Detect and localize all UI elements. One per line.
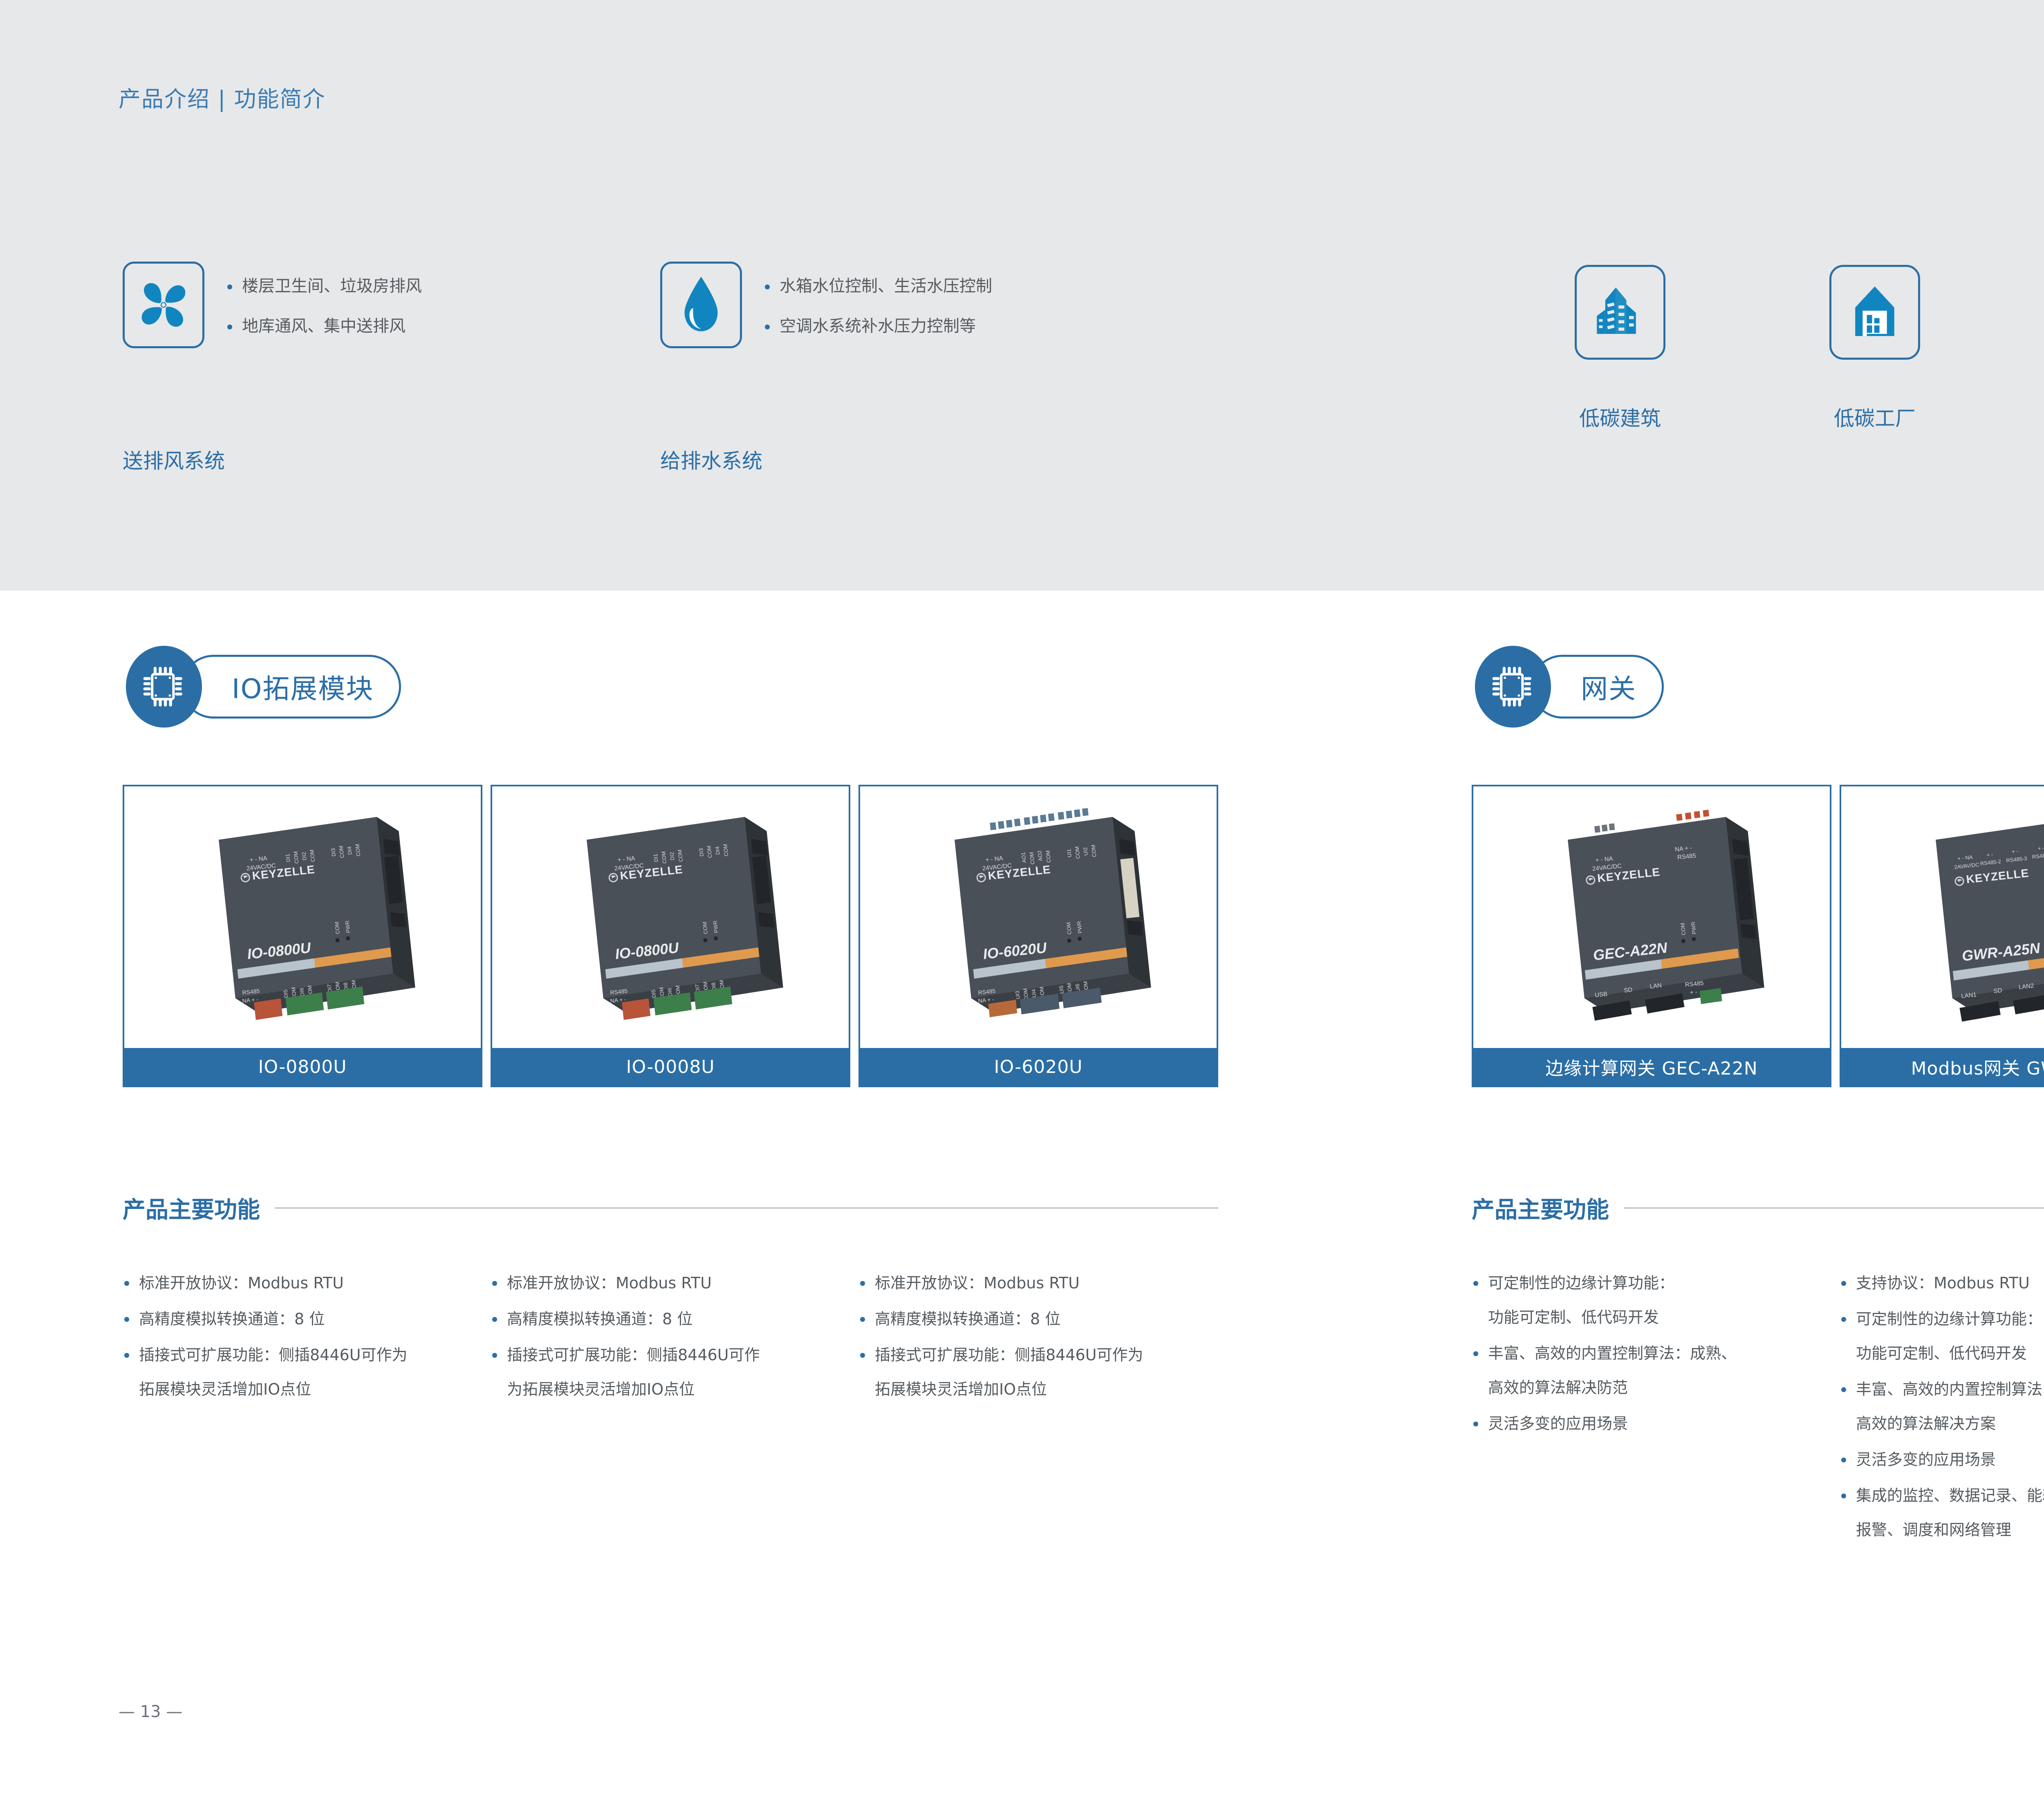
- svg-text:UI5: UI5: [1058, 985, 1065, 994]
- scenario-caption: 给排水系统: [660, 445, 762, 474]
- svg-text:UI2: UI2: [1082, 847, 1089, 856]
- svg-text:COM: COM: [1679, 923, 1687, 936]
- product-photo: + - NA 24VAC/DC NA + - RS485 KEYZELLE GE…: [1473, 786, 1830, 1048]
- device-image-io-0800u: + - NA 24VAC/DC DI1 COM DI2 COM DI3 COM …: [124, 786, 481, 1048]
- feature-column-io-3: 标准开放协议：Modbus RTU 高精度模拟转换通道：8 位 插接式可扩展功能…: [858, 1275, 1210, 1417]
- device-image-io-6020u: + - NA 24VAC/DC AO1 COM AO2 COM UI1 COM …: [860, 786, 1217, 1048]
- list-item: 高精度模拟转换通道：8 位: [491, 1311, 842, 1327]
- factory-icon-tile: [1829, 265, 1920, 360]
- feature-column-io-1: 标准开放协议：Modbus RTU 高精度模拟转换通道：8 位 插接式可扩展功能…: [123, 1275, 474, 1417]
- svg-text:SD: SD: [1624, 986, 1633, 994]
- list-item: 水箱水位控制、生活水压控制: [762, 278, 992, 294]
- list-item: 高精度模拟转换通道：8 位: [858, 1311, 1210, 1327]
- water-drop-icon-tile: [660, 262, 742, 348]
- product-card-caption: Modbus网关 GWR-A25N: [1841, 1048, 2044, 1086]
- ventilation-bullet-list: 楼层卫生间、垃圾房排风 地库通风、集中送排风: [225, 278, 422, 358]
- product-card-caption: IO-0800U: [124, 1048, 481, 1086]
- office-building-icon: [1594, 283, 1647, 341]
- section-badge-label: IO拓展模块: [232, 667, 374, 706]
- svg-text:AO2: AO2: [1036, 850, 1044, 861]
- svg-text:COM: COM: [309, 849, 316, 862]
- product-card[interactable]: + - NA + - + - + - + - 2AVAV/DC RS485-2 …: [1840, 785, 2044, 1087]
- feature-list: 支持协议：Modbus RTU 可定制性的边缘计算功能：功能可定制、低代码开发 …: [1840, 1275, 2044, 1538]
- svg-text:COM: COM: [677, 849, 684, 862]
- scenario-block-low-carbon-factory: 低碳工厂: [1826, 265, 1924, 432]
- svg-text:UI1: UI1: [1066, 849, 1073, 858]
- list-item: 支持协议：Modbus RTU: [1840, 1275, 2044, 1291]
- list-item: 标准开放协议：Modbus RTU: [491, 1275, 842, 1291]
- svg-text:COM: COM: [706, 845, 713, 858]
- list-item: 标准开放协议：Modbus RTU: [858, 1275, 1210, 1291]
- list-item: 楼层卫生间、垃圾房排风: [225, 278, 422, 294]
- list-item: 灵活多变的应用场景: [1840, 1452, 2044, 1467]
- svg-text:DI1: DI1: [652, 853, 659, 862]
- svg-text:DI1: DI1: [285, 853, 291, 862]
- svg-text:DI5: DI5: [650, 989, 657, 998]
- svg-text:DI2: DI2: [300, 852, 307, 861]
- running-header-left: 产品介绍 | 功能简介: [119, 81, 326, 113]
- feature-column-gw-1: 可定制性的边缘计算功能： 功能可定制、低代码开发 丰富、高效的内置控制算法：成熟…: [1472, 1275, 1823, 1452]
- features-heading-io: 产品主要功能: [123, 1191, 1218, 1225]
- product-card-caption: IO-6020U: [860, 1048, 1217, 1086]
- heading-rule: [1624, 1207, 2044, 1209]
- product-photo: + - NA 24VAC/DC DI1 COM DI2 COM DI3 COM …: [492, 786, 849, 1048]
- svg-text:COM: COM: [292, 851, 300, 864]
- svg-text:+ -: + -: [2011, 848, 2018, 855]
- device-image-gec-a22n: + - NA 24VAC/DC NA + - RS485 KEYZELLE GE…: [1473, 786, 1830, 1048]
- device-image-io-0008u: + - NA 24VAC/DC DI1 COM DI2 COM DI3 COM …: [492, 786, 849, 1048]
- svg-text:DI4: DI4: [714, 846, 721, 855]
- feature-column-io-2: 标准开放协议：Modbus RTU 高精度模拟转换通道：8 位 插接式可扩展功能…: [491, 1275, 842, 1417]
- svg-text:UI4: UI4: [1030, 989, 1037, 998]
- section-badge-pill: IO拓展模块: [182, 655, 401, 719]
- svg-text:AO1: AO1: [1020, 852, 1027, 863]
- svg-text:COM: COM: [1090, 844, 1097, 858]
- svg-text:DI3: DI3: [330, 848, 337, 857]
- svg-text:COM: COM: [1044, 850, 1052, 863]
- svg-text:USB: USB: [1594, 990, 1607, 999]
- factory-icon: [1851, 283, 1899, 341]
- svg-text:COM: COM: [338, 845, 345, 858]
- svg-text:UI3: UI3: [1014, 990, 1021, 999]
- svg-text:PWR: PWR: [1076, 921, 1083, 934]
- svg-text:COM: COM: [1065, 922, 1073, 935]
- svg-text:+ -: + -: [1690, 988, 1698, 996]
- list-item: 灵活多变的应用场景: [1472, 1416, 1823, 1431]
- features-heading-text: 产品主要功能: [123, 1191, 260, 1225]
- product-card[interactable]: + - NA 24VAC/DC DI1 COM DI2 COM DI3 COM …: [123, 785, 482, 1087]
- features-heading-gateway: 产品主要功能: [1472, 1191, 2044, 1225]
- list-item: 丰富、高效的内置控制算法：成熟、高效的算法解决防范: [1472, 1346, 1823, 1395]
- product-card-caption: IO-0008U: [492, 1048, 849, 1086]
- list-item: 空调水系统补水压力控制等: [762, 318, 992, 334]
- product-card[interactable]: + - NA 24VAC/DC NA + - RS485 KEYZELLE GE…: [1472, 785, 1831, 1087]
- product-card[interactable]: + - NA 24VAC/DC DI1 COM DI2 COM DI3 COM …: [491, 785, 850, 1087]
- list-item: 可定制性的边缘计算功能： 功能可定制、低代码开发: [1472, 1275, 1823, 1325]
- list-item: 可定制性的边缘计算功能：功能可定制、低代码开发: [1840, 1311, 2044, 1361]
- feature-list: 可定制性的边缘计算功能： 功能可定制、低代码开发 丰富、高效的内置控制算法：成熟…: [1472, 1275, 1823, 1431]
- feature-list: 标准开放协议：Modbus RTU 高精度模拟转换通道：8 位 插接式可扩展功能…: [858, 1275, 1210, 1397]
- water-drop-icon: [677, 274, 726, 336]
- scenario-caption: 低碳工厂: [1826, 402, 1924, 432]
- feature-list: 标准开放协议：Modbus RTU 高精度模拟转换通道：8 位 插接式可扩展功能…: [491, 1275, 842, 1397]
- list-item: 集成的监控、数据记录、能耗计量、报警、调度和网络管理: [1840, 1488, 2044, 1538]
- section-badge-pill: 网关: [1531, 655, 1664, 719]
- office-building-icon-tile: [1575, 265, 1665, 360]
- scenario-caption: 送排风系统: [123, 445, 225, 474]
- page-number-left: — 13 —: [119, 1702, 182, 1721]
- scenario-caption: 低碳建筑: [1571, 402, 1669, 432]
- water-bullet-list: 水箱水位控制、生活水压控制 空调水系统补水压力控制等: [762, 278, 992, 358]
- svg-text:DI3: DI3: [698, 848, 705, 857]
- svg-text:COM: COM: [1074, 846, 1081, 859]
- list-item: 地库通风、集中送排风: [225, 318, 422, 334]
- svg-text:COM: COM: [354, 844, 361, 857]
- svg-text:COM: COM: [334, 921, 341, 934]
- product-photo: + - NA 24VAC/DC DI1 COM DI2 COM DI3 COM …: [124, 786, 481, 1048]
- svg-text:LAN: LAN: [1650, 982, 1662, 990]
- fan-icon-tile: [123, 262, 204, 348]
- fan-icon: [135, 276, 192, 334]
- features-heading-text: 产品主要功能: [1472, 1191, 1609, 1225]
- svg-text:COM: COM: [722, 844, 729, 857]
- feature-column-gw-2: 支持协议：Modbus RTU 可定制性的边缘计算功能：功能可定制、低代码开发 …: [1840, 1275, 2044, 1558]
- heading-rule: [275, 1207, 1218, 1209]
- svg-text:DI4: DI4: [346, 846, 353, 855]
- list-item: 标准开放协议：Modbus RTU: [123, 1275, 474, 1291]
- svg-text:PWR: PWR: [344, 920, 352, 934]
- svg-text:SD: SD: [1993, 987, 2003, 995]
- list-item: 插接式可扩展功能：侧插8446U可作为拓展模块灵活增加IO点位: [491, 1347, 842, 1397]
- chip-icon: [142, 664, 186, 710]
- device-image-gwr-a25n: + - NA + - + - + - + - 2AVAV/DC RS485-2 …: [1841, 786, 2044, 1048]
- svg-text:COM: COM: [702, 921, 709, 934]
- svg-text:DI5: DI5: [282, 989, 289, 998]
- svg-text:COM: COM: [660, 851, 668, 864]
- list-item: 插接式可扩展功能：侧插8446U可作为拓展模块灵活增加IO点位: [858, 1347, 1210, 1397]
- product-card-caption: 边缘计算网关 GEC-A22N: [1473, 1048, 1830, 1086]
- svg-text:DI2: DI2: [668, 852, 675, 861]
- scenario-block-low-carbon-building: 低碳建筑: [1571, 265, 1669, 432]
- feature-list: 标准开放协议：Modbus RTU 高精度模拟转换通道：8 位 插接式可扩展功能…: [123, 1275, 474, 1397]
- list-item: 丰富、高效的内置控制算法：成熟、高效的算法解决方案: [1840, 1382, 2044, 1431]
- chip-icon: [1491, 664, 1535, 710]
- svg-text:+ -: + -: [2037, 845, 2044, 852]
- list-item: 插接式可扩展功能：侧插8446U可作为拓展模块灵活增加IO点位: [123, 1347, 474, 1397]
- product-card[interactable]: + - NA 24VAC/DC AO1 COM AO2 COM UI1 COM …: [858, 785, 1218, 1087]
- svg-text:+ -: + -: [1986, 851, 1993, 858]
- product-photo: + - NA + - + - + - + - 2AVAV/DC RS485-2 …: [1841, 786, 2044, 1048]
- svg-text:PWR: PWR: [1690, 921, 1697, 934]
- svg-text:COM: COM: [1028, 852, 1035, 865]
- svg-text:PWR: PWR: [712, 920, 719, 934]
- list-item: 高精度模拟转换通道：8 位: [123, 1311, 474, 1327]
- section-badge-label: 网关: [1581, 667, 1636, 706]
- product-photo: + - NA 24VAC/DC AO1 COM AO2 COM UI1 COM …: [860, 786, 1217, 1048]
